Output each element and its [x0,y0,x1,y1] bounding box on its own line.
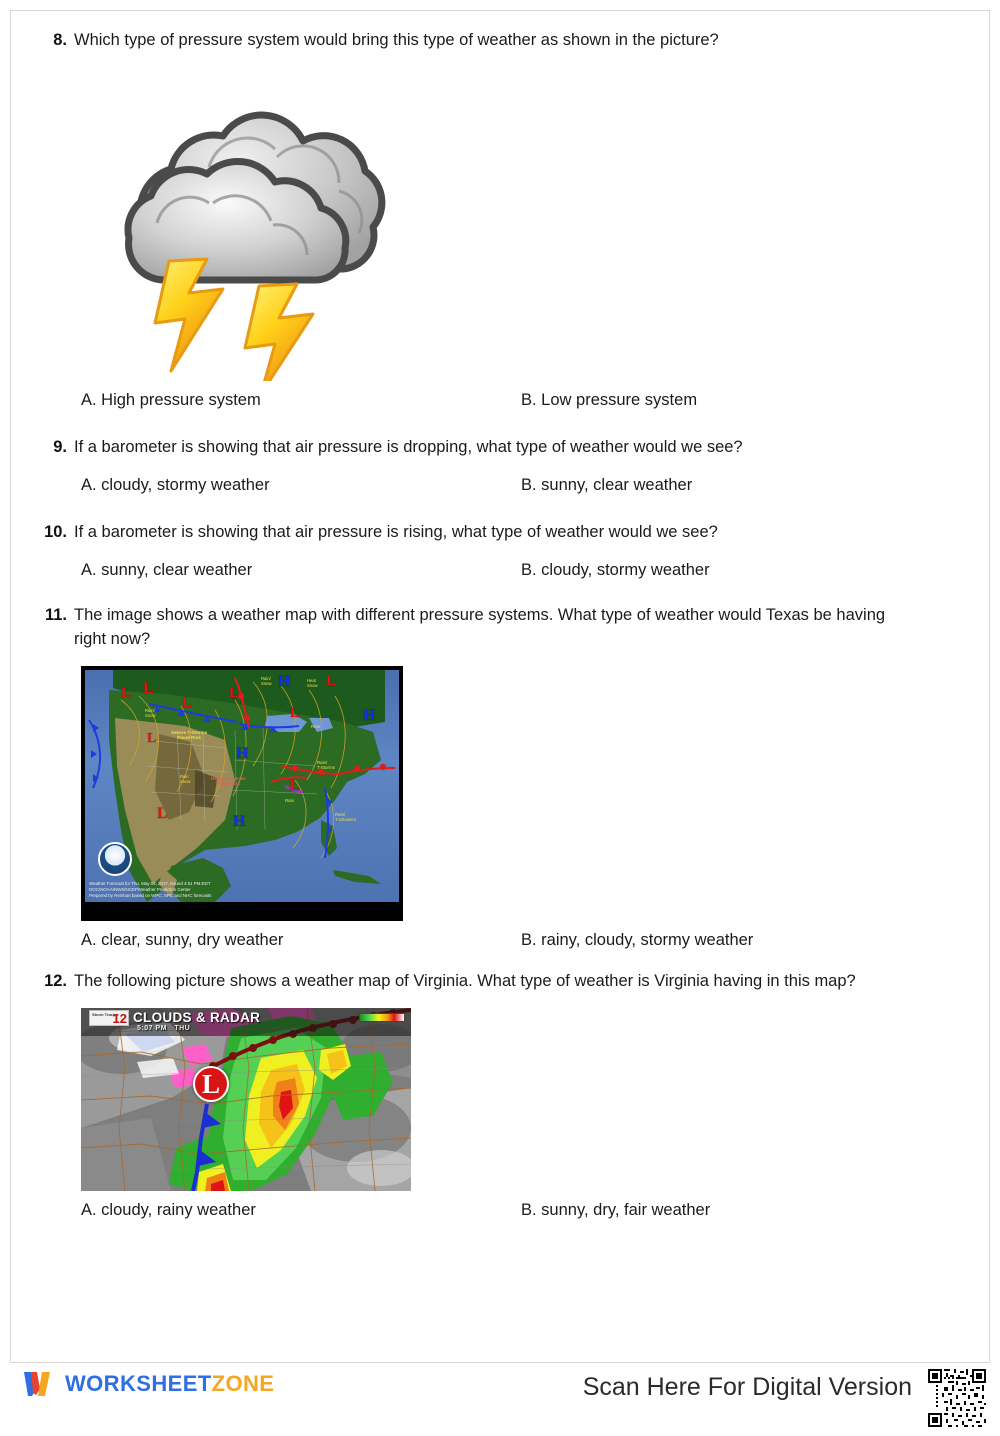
question-text: If a barometer is showing that air press… [74,436,743,460]
caption-line-3: Prepared by Reinhart based on WPC, SPC a… [89,893,399,899]
worksheet-zone-logo[interactable]: WORKSHEETZONE [22,1369,274,1399]
qr-code[interactable] [924,1365,990,1431]
question-text: If a barometer is showing that air press… [74,521,718,545]
brand-word-worksheet: WORKSHEET [65,1371,212,1396]
pressure-label-low: L [143,681,154,697]
weather-text-label: Heavy T-StormsFlood Risk [211,776,246,787]
weather-text-label: HeatSnow [307,678,317,688]
question-number: 11. [29,604,74,628]
pressure-label-low: L [326,674,336,689]
radar-title: CLOUDS & RADAR [133,1010,260,1025]
page-footer: WORKSHEETZONE Scan Here For Digital Vers… [0,1363,1000,1414]
option-a[interactable]: A. High pressure system [81,391,521,410]
thundercloud-illustration [81,71,411,381]
question-text: Which type of pressure system would brin… [74,29,719,53]
weather-text-label: Severe T-StormsFlood Risk [171,730,207,741]
pressure-label-low: L [229,686,239,701]
pressure-label-low: L [157,806,168,822]
option-b[interactable]: B. rainy, cloudy, stormy weather [521,931,961,950]
scan-instruction-text: Scan Here For Digital Version [583,1373,912,1402]
noaa-map-canvas: L L L L L L L L L H H H H Severe T-Storm… [85,670,399,902]
option-a[interactable]: A. cloudy, rainy weather [81,1201,521,1220]
thundercloud-svg [81,71,411,381]
option-b[interactable]: B. sunny, dry, fair weather [521,1201,961,1220]
qr-code-image [924,1365,990,1431]
pressure-label-high: H [233,814,245,830]
options-question-12: A. cloudy, rainy weather B. sunny, dry, … [81,1201,973,1220]
options-question-8: A. High pressure system B. Low pressure … [81,391,973,410]
pressure-label-low: L [147,732,156,746]
weather-text-label: Rain/T-Showers [335,812,356,823]
question-text: The image shows a weather map with diffe… [74,604,914,652]
weather-text-label: Rain [285,798,294,803]
question-number: 9. [29,436,74,460]
question-12: 12. The following picture shows a weathe… [29,970,973,994]
question-number: 12. [29,970,74,994]
option-a[interactable]: A. clear, sunny, dry weather [81,931,521,950]
question-10: 10. If a barometer is showing that air p… [29,521,973,545]
weather-text-label: RainSnow [180,774,190,784]
question-number: 8. [29,29,74,53]
station-number: 12 [113,1011,127,1026]
options-question-11: A. clear, sunny, dry weather B. rainy, c… [81,931,973,950]
question-text: The following picture shows a weather ma… [74,970,856,994]
station-logo: Storm Tracker 12 [89,1010,129,1026]
options-question-9: A. cloudy, stormy weather B. sunny, clea… [81,476,973,495]
options-question-10: A. sunny, clear weather B. cloudy, storm… [81,561,973,580]
brand-mark-icon [22,1369,56,1399]
option-a[interactable]: A. cloudy, stormy weather [81,476,521,495]
page-frame: 8. Which type of pressure system would b… [10,10,990,1363]
question-number: 10. [29,521,74,545]
pressure-label-low: L [182,696,192,711]
tv-clouds-and-radar-map: L Storm Tracker 12 CLOUDS & RADAR 5:07 P… [81,1008,411,1191]
weather-text-label: Rain [311,724,320,729]
brand-text: WORKSHEETZONE [65,1371,274,1397]
lightning-bolt-right [245,284,313,381]
pressure-label-low: L [290,706,300,721]
low-pressure-marker: L [193,1066,229,1102]
pressure-label-high: H [278,674,290,690]
pressure-label-low: L [121,686,131,701]
option-a[interactable]: A. sunny, clear weather [81,561,521,580]
question-9: 9. If a barometer is showing that air pr… [29,436,973,460]
noaa-surface-forecast-map: L L L L L L L L L H H H H Severe T-Storm… [81,666,403,921]
pressure-label-high: H [363,708,375,724]
weather-text-label: Rain/Snow [261,676,271,686]
option-b[interactable]: B. Low pressure system [521,391,961,410]
radar-timestamp: 5:07 PM THU [137,1025,190,1032]
option-b[interactable]: B. cloudy, stormy weather [521,561,961,580]
option-b[interactable]: B. sunny, clear weather [521,476,961,495]
noaa-seal-icon [98,842,132,876]
brand-word-zone: ZONE [212,1371,275,1396]
pressure-label-low: L [289,778,300,794]
question-8: 8. Which type of pressure system would b… [29,29,973,53]
pressure-label-high: H [236,746,248,762]
worksheet-content: 8. Which type of pressure system would b… [11,11,991,1220]
noaa-map-caption: Weather Forecast for Thu, May 04, 2017, … [89,881,399,899]
radar-color-scale [359,1013,405,1022]
weather-text-label: Rain/T-Storms [317,760,335,771]
weather-text-label: Rain/Snow [145,708,155,718]
question-11: 11. The image shows a weather map with d… [29,604,973,652]
